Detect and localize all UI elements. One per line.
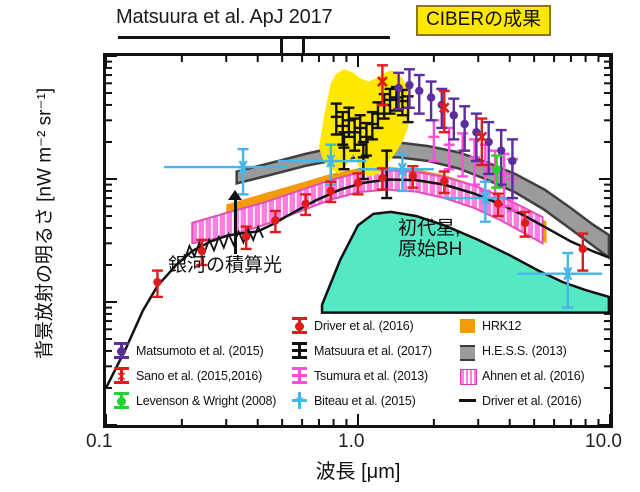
legend-item: Levenson & Wright (2008) bbox=[113, 391, 291, 410]
annotation-first-stars-line1: 初代星, bbox=[398, 218, 460, 239]
legend-item: Matsumoto et al. (2015) bbox=[113, 341, 291, 360]
legend-item: Tsumura et al. (2013) bbox=[291, 366, 459, 385]
title-underline bbox=[118, 36, 390, 39]
x-tick-label-0p1: 0.1 bbox=[86, 431, 112, 453]
figure-title: Matsuura et al. ApJ 2017 bbox=[116, 6, 332, 29]
legend-item: ✶Biteau et al. (2015) bbox=[291, 391, 459, 410]
y-axis-title: 背景放射の明るさ [nW m⁻² sr⁻¹] bbox=[30, 29, 57, 419]
legend-item: Driver et al. (2016) bbox=[459, 391, 605, 410]
legend-symbol-errorbar-dot-icon bbox=[291, 316, 308, 335]
legend-symbol-swatch-icon bbox=[459, 316, 476, 335]
x-tick-label-1p0: 1.0 bbox=[338, 431, 364, 453]
legend-label: Biteau et al. (2015) bbox=[314, 394, 416, 408]
legend-symbol-errorbar-x-icon: ✕ bbox=[113, 366, 130, 385]
datapoint-errorbar-dot bbox=[414, 75, 425, 114]
legend-symbol-hess-swatch-icon bbox=[459, 341, 476, 360]
datapoint-errorbar-x bbox=[439, 91, 450, 132]
legend-label: Matsuura et al. (2017) bbox=[314, 344, 432, 358]
legend-item: HRK12 bbox=[459, 316, 605, 335]
legend-label: Levenson & Wright (2008) bbox=[136, 394, 276, 408]
legend-label: Sano et al. (2015,2016) bbox=[136, 369, 262, 383]
legend-label: H.E.S.S. (2013) bbox=[482, 344, 567, 358]
datapoint-errorbar-dot bbox=[426, 82, 437, 121]
legend-label: Tsumura et al. (2013) bbox=[314, 369, 428, 383]
legend-item: Driver et al. (2016) bbox=[291, 316, 459, 335]
datapoint-errorbar-dot bbox=[459, 106, 470, 150]
legend-label: Driver et al. (2016) bbox=[314, 319, 414, 333]
ciber-callout-badge: CIBERの成果 bbox=[416, 5, 551, 36]
legend-label: Driver et al. (2016) bbox=[482, 394, 582, 408]
legend-item: H.E.S.S. (2013) bbox=[459, 341, 605, 360]
x-tick-label-10p0: 10.0 bbox=[585, 431, 622, 453]
legend-symbol-errorbar-flat-icon bbox=[291, 341, 308, 360]
legend-item: Ahnen et al. (2016) bbox=[459, 366, 605, 385]
legend-symbol-errorbar-dot-icon bbox=[113, 391, 130, 410]
legend-label: HRK12 bbox=[482, 319, 521, 333]
x-axis-title: 波長 [μm] bbox=[103, 455, 613, 484]
annotation-first-stars: 初代星, 原始BH bbox=[398, 218, 462, 261]
legend-label: Matsumoto et al. (2015) bbox=[136, 344, 263, 358]
annotation-first-stars-line2: 原始BH bbox=[398, 239, 462, 260]
galaxy-arrow-stem bbox=[234, 198, 237, 254]
galaxy-arrow-head-icon bbox=[228, 190, 242, 200]
legend-symbol-errorbar-dot-icon bbox=[113, 341, 130, 360]
legend-item: ✕Sano et al. (2015,2016) bbox=[113, 366, 291, 385]
annotation-galaxy-light: 銀河の積算光 bbox=[168, 255, 282, 276]
legend-item: Matsuura et al. (2017) bbox=[291, 341, 459, 360]
figure-root: Matsuura et al. ApJ 2017 CIBERの成果 背景放射の明… bbox=[0, 0, 640, 492]
legend-symbol-hatched-swatch-icon bbox=[459, 366, 476, 385]
legend-label: Ahnen et al. (2016) bbox=[482, 369, 585, 383]
legend-symbol-errorbar-star-icon: ✶ bbox=[291, 391, 308, 410]
legend-symbol-line-icon bbox=[459, 391, 476, 410]
legend-symbol-errorbar-flat-icon bbox=[291, 366, 308, 385]
chart-legend: Driver et al. (2016)HRK12Matsumoto et al… bbox=[113, 313, 605, 417]
